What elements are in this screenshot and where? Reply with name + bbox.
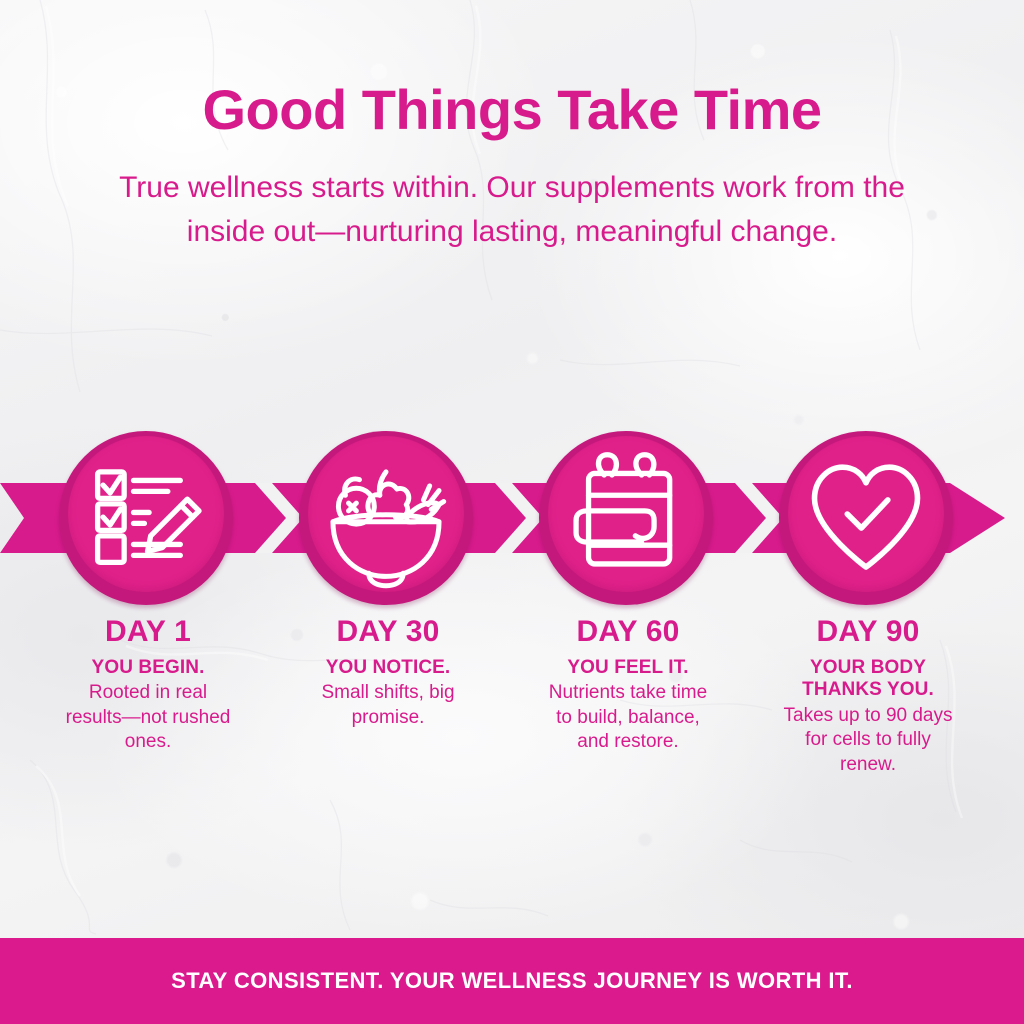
step-3-day: DAY 60 [539,616,717,648]
step-4-labels: DAY 90 YOUR BODY THANKS YOU. Takes up to… [779,616,957,777]
step-4-circle[interactable] [779,431,953,605]
step-2-labels: DAY 30 YOU NOTICE. Small shifts, big pro… [299,616,477,730]
step-3-labels: DAY 60 YOU FEEL IT. Nutrients take time … [539,616,717,754]
page-subtitle: True wellness starts within. Our supplem… [0,166,1024,255]
step-2-lead: YOU NOTICE. [299,657,477,680]
step-4-desc: Takes up to 90 days for cells to fully r… [779,704,957,777]
step-3-desc: Nutrients take time to build, balance, a… [539,681,717,754]
footer-banner: STAY CONSISTENT. YOUR WELLNESS JOURNEY I… [0,938,1024,1024]
heart-check-icon [788,436,944,592]
page-title: Good Things Take Time [0,82,1024,138]
step-1-labels: DAY 1 YOU BEGIN. Rooted in real results—… [59,616,237,754]
checklist-pencil-icon [68,436,224,592]
footer-text: STAY CONSISTENT. YOUR WELLNESS JOURNEY I… [171,968,853,994]
step-1-desc: Rooted in real results—not rushed ones. [59,681,237,754]
calendar-icon [548,436,704,592]
step-4-lead: YOUR BODY THANKS YOU. [779,657,957,703]
step-2-circle[interactable] [299,431,473,605]
step-1-day: DAY 1 [59,616,237,648]
step-1-lead: YOU BEGIN. [59,657,237,680]
step-4-day: DAY 90 [779,616,957,648]
header: Good Things Take Time True wellness star… [0,0,1024,255]
step-3-lead: YOU FEEL IT. [539,657,717,680]
salad-bowl-icon [308,436,464,592]
step-1-circle[interactable] [59,431,233,605]
step-2-day: DAY 30 [299,616,477,648]
step-2-desc: Small shifts, big promise. [299,681,477,730]
step-3-circle[interactable] [539,431,713,605]
